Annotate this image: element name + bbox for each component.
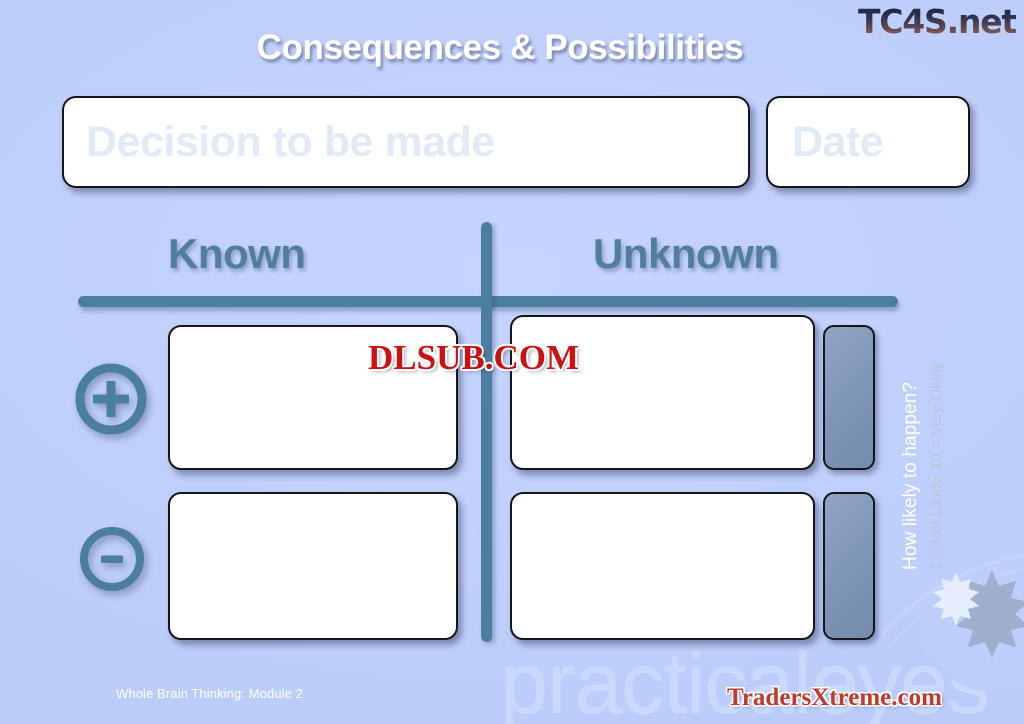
date-input[interactable]: Date: [766, 96, 970, 188]
starburst-small-icon: [933, 572, 979, 626]
cell-known-negative[interactable]: [168, 492, 458, 640]
worksheet-canvas: practicaleyes TC4S.net Consequences & Po…: [0, 0, 1024, 724]
date-placeholder: Date: [768, 118, 883, 167]
footer-note: Whole Brain Thinking: Module 2: [116, 686, 303, 701]
cell-unknown-negative[interactable]: [510, 492, 815, 640]
minus-circle-icon: [76, 523, 148, 595]
tradersxtreme-watermark: TradersXtreme.com: [727, 684, 942, 712]
decision-input[interactable]: Decision to be made: [62, 96, 750, 188]
column-header-known: Known: [168, 230, 305, 278]
plus-circle-icon: [72, 360, 150, 438]
score-box-negative[interactable]: [823, 492, 875, 640]
column-header-unknown: Unknown: [593, 230, 778, 278]
likelihood-scale: 1 = Not Likely, 10 = Very Likely: [929, 362, 944, 570]
vertical-divider: [481, 222, 492, 642]
likelihood-question: How likely to happen?: [901, 382, 920, 570]
page-title: Consequences & Possibilities: [0, 28, 1000, 68]
decision-placeholder: Decision to be made: [64, 118, 495, 167]
starburst-large-icon: [956, 570, 1024, 658]
dlsub-watermark: DLSUB.COM: [368, 338, 579, 378]
likelihood-legend: How likely to happen? 1 = Not Likely, 10…: [886, 310, 1006, 570]
score-box-positive[interactable]: [823, 325, 875, 470]
